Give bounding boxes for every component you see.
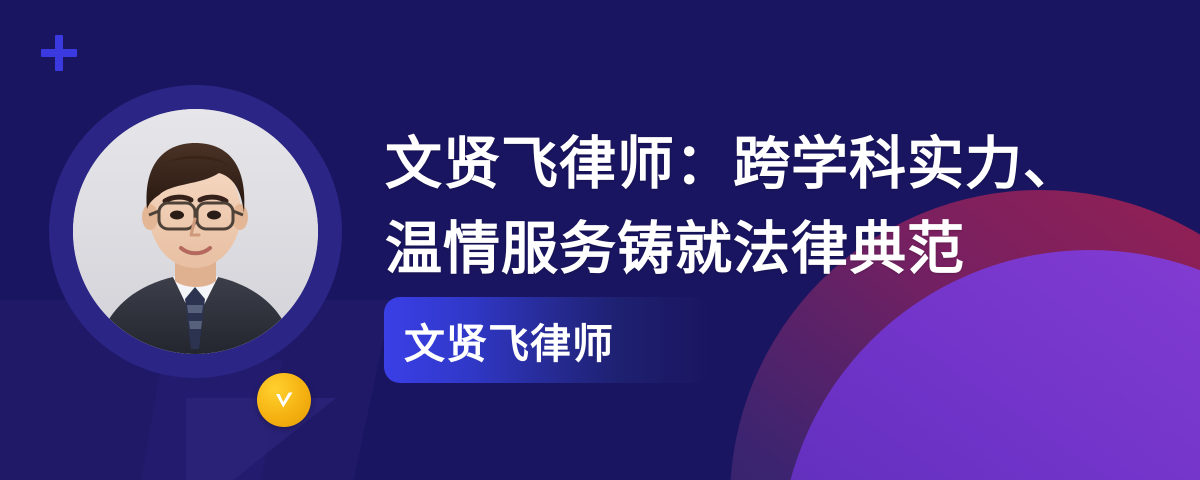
- plus-icon: [41, 35, 77, 71]
- verified-badge-icon: [257, 373, 311, 427]
- promo-banner: 文贤飞律师：跨学科实力、温情服务铸就法律典范 文贤飞律师: [0, 0, 1200, 480]
- avatar[interactable]: [49, 85, 342, 378]
- name-badge-label: 文贤飞律师: [404, 310, 614, 370]
- page-title: 文贤飞律师：跨学科实力、温情服务铸就法律典范: [385, 122, 1085, 292]
- avatar-photo: [73, 109, 318, 354]
- decor-wedge: [138, 360, 283, 480]
